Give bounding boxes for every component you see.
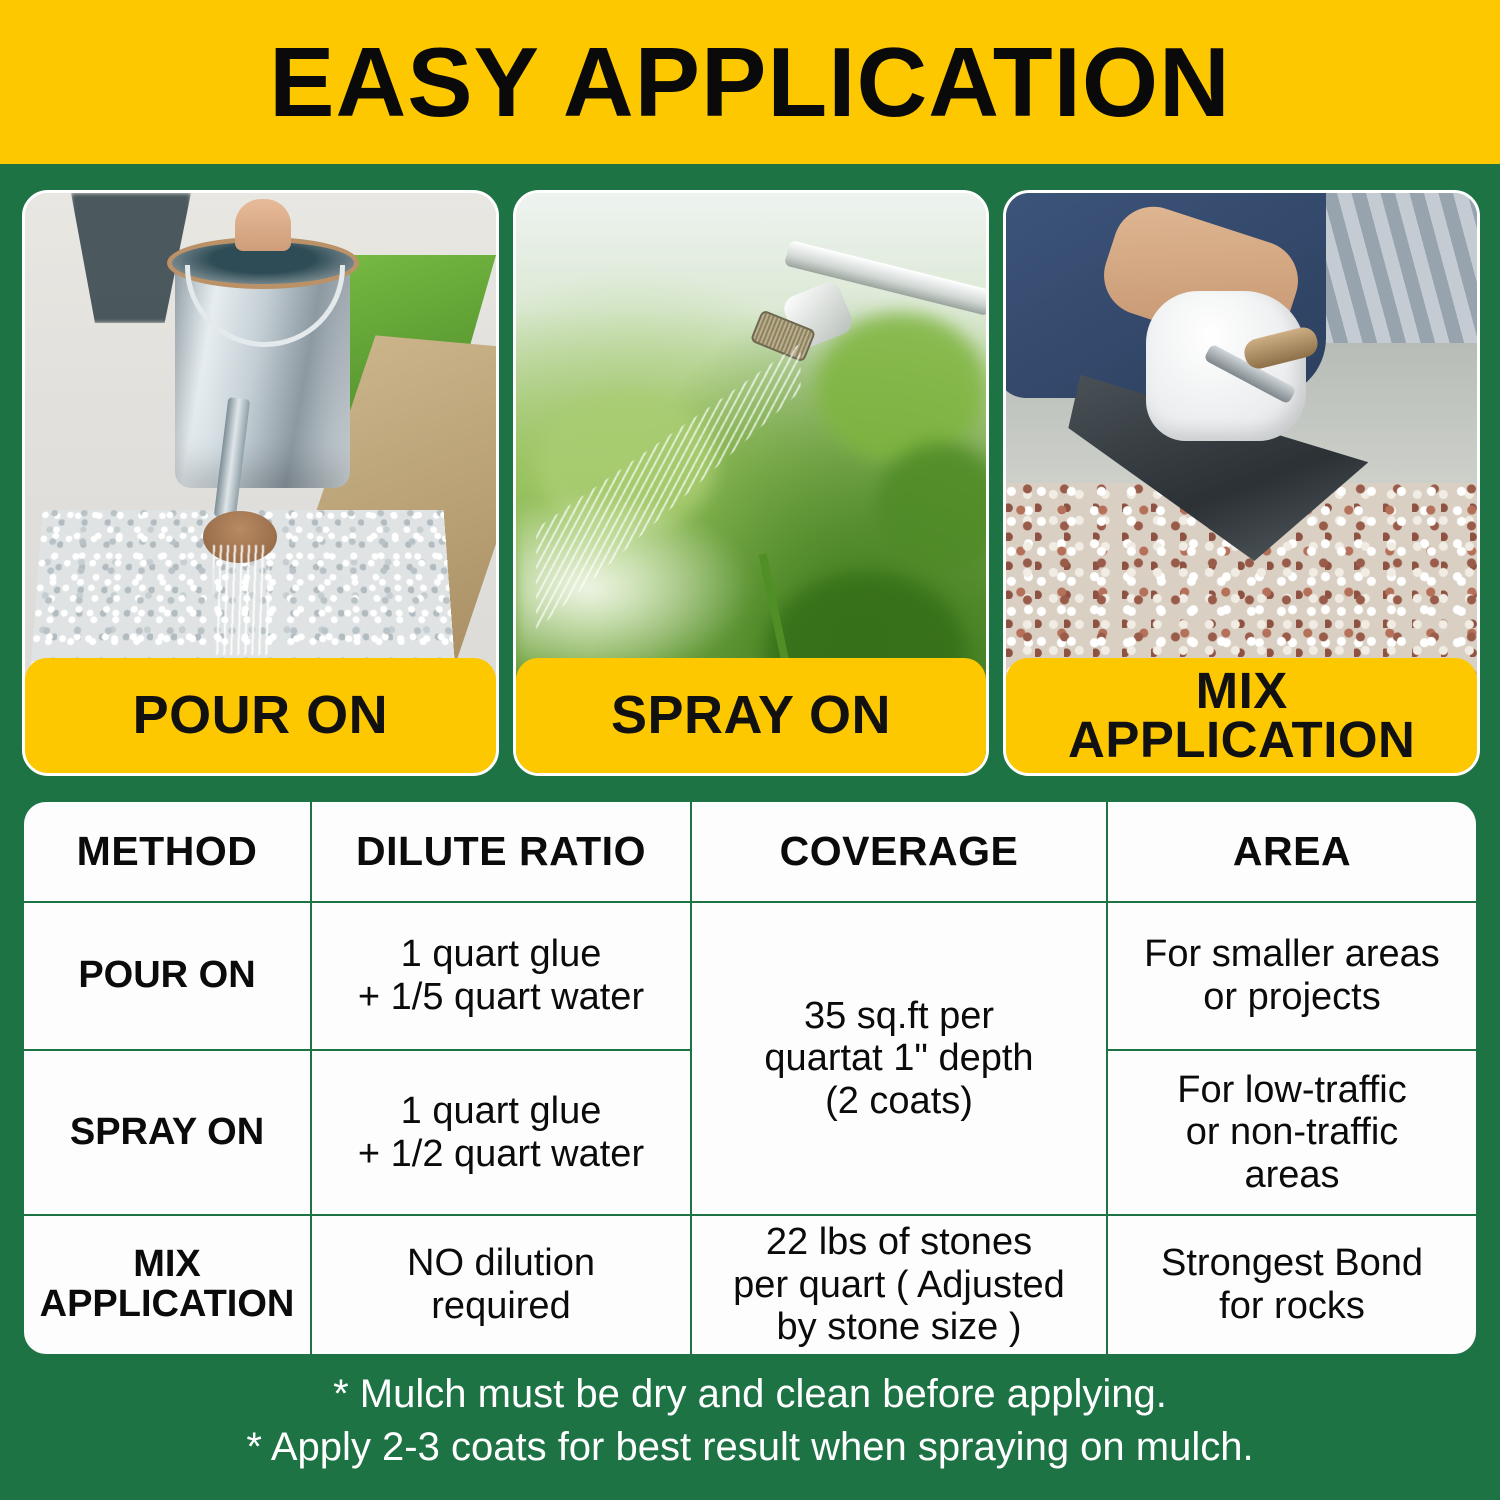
infographic-page: EASY APPLICATION POUR ON <box>0 0 1500 1500</box>
panel-caption-spray-on: SPRAY ON <box>516 658 987 773</box>
cell-area-spray-on: For low-traffic or non-traffic areas <box>1107 1050 1476 1215</box>
table-header-row: METHOD DILUTE RATIO COVERAGE AREA <box>24 802 1476 902</box>
method-line2: APPLICATION <box>40 1283 295 1325</box>
area-line2: or projects <box>1203 976 1380 1018</box>
area-line1: Strongest Bond <box>1161 1242 1423 1284</box>
area-line1: For smaller areas <box>1144 933 1440 975</box>
cell-coverage-mix-application: 22 lbs of stones per quart ( Adjusted by… <box>691 1215 1107 1354</box>
ratio-line1: 1 quart glue <box>401 1090 602 1132</box>
header-banner: EASY APPLICATION <box>0 0 1500 164</box>
area-line1: For low-traffic <box>1177 1069 1406 1111</box>
cell-method-mix-application: MIX APPLICATION <box>24 1215 311 1354</box>
table-row: POUR ON 1 quart glue + 1/5 quart water 3… <box>24 902 1476 1050</box>
area-line2: or non-traffic <box>1186 1111 1399 1153</box>
panel-caption-pour-on: POUR ON <box>25 658 496 773</box>
coverage-line2: per quart ( Adjusted <box>733 1264 1065 1306</box>
cell-coverage-merged: 35 sq.ft per quartat 1" depth (2 coats) <box>691 902 1107 1215</box>
column-header-dilute-ratio: DILUTE RATIO <box>311 802 691 902</box>
water-stream <box>213 545 269 655</box>
panel-caption-label: SPRAY ON <box>611 690 891 741</box>
page-title: EASY APPLICATION <box>269 33 1231 131</box>
cell-dilute-ratio-pour-on: 1 quart glue + 1/5 quart water <box>311 902 691 1050</box>
cell-area-pour-on: For smaller areas or projects <box>1107 902 1476 1050</box>
ratio-line2: + 1/5 quart water <box>358 976 644 1018</box>
footnotes: * Mulch must be dry and clean before app… <box>0 1368 1500 1474</box>
column-header-area: AREA <box>1107 802 1476 902</box>
decor-foliage <box>816 313 986 463</box>
hand-grip <box>235 199 291 251</box>
coverage-line3: (2 coats) <box>825 1080 973 1122</box>
column-header-method: METHOD <box>24 802 311 902</box>
table-row: MIX APPLICATION NO dilution required 22 … <box>24 1215 1476 1354</box>
cell-method-pour-on: POUR ON <box>24 902 311 1050</box>
method-panels: POUR ON SPRAY ON <box>22 190 1480 776</box>
footnote-2: * Apply 2-3 coats for best result when s… <box>0 1421 1500 1474</box>
panel-caption-label: MIXAPPLICATION <box>1068 667 1415 764</box>
specification-table: METHOD DILUTE RATIO COVERAGE AREA POUR O… <box>24 802 1476 1354</box>
coverage-line2: quartat 1" depth <box>764 1037 1033 1079</box>
panel-caption-label: POUR ON <box>133 690 389 741</box>
column-header-coverage: COVERAGE <box>691 802 1107 902</box>
panel-caption-mix-application: MIXAPPLICATION <box>1006 658 1477 773</box>
cell-dilute-ratio-mix-application: NO dilution required <box>311 1215 691 1354</box>
coverage-line3: by stone size ) <box>777 1306 1022 1348</box>
panel-mix-application[interactable]: MIXAPPLICATION <box>1003 190 1480 776</box>
footnote-1: * Mulch must be dry and clean before app… <box>0 1368 1500 1421</box>
panel-caption-line2: APPLICATION <box>1068 711 1415 768</box>
ratio-line1: 1 quart glue <box>401 933 602 975</box>
cell-method-spray-on: SPRAY ON <box>24 1050 311 1215</box>
coverage-line1: 35 sq.ft per <box>804 995 994 1037</box>
cell-area-mix-application: Strongest Bond for rocks <box>1107 1215 1476 1354</box>
area-line2: for rocks <box>1219 1285 1365 1327</box>
coverage-line1: 22 lbs of stones <box>766 1221 1032 1263</box>
spray-mist <box>516 493 756 683</box>
cell-dilute-ratio-spray-on: 1 quart glue + 1/2 quart water <box>311 1050 691 1215</box>
area-line3: areas <box>1244 1154 1339 1196</box>
panel-pour-on[interactable]: POUR ON <box>22 190 499 776</box>
ratio-line1: NO dilution <box>407 1242 595 1284</box>
method-line1: MIX <box>133 1243 201 1285</box>
ratio-line2: + 1/2 quart water <box>358 1133 644 1175</box>
ratio-line2: required <box>431 1285 570 1327</box>
panel-spray-on[interactable]: SPRAY ON <box>513 190 990 776</box>
